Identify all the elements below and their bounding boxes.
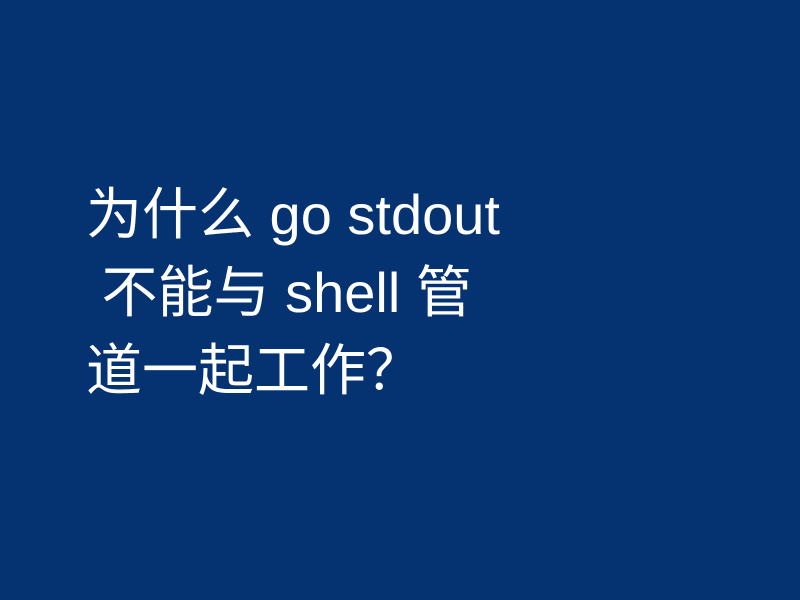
title-line-3: 道一起工作？ — [86, 332, 606, 410]
page-title: 为什么 go stdout 不能与 shell 管 道一起工作？ — [86, 176, 606, 410]
title-line-1: 为什么 go stdout — [86, 176, 606, 254]
title-line-2: 不能与 shell 管 — [86, 254, 606, 332]
slide-card: 为什么 go stdout 不能与 shell 管 道一起工作？ — [0, 0, 800, 600]
